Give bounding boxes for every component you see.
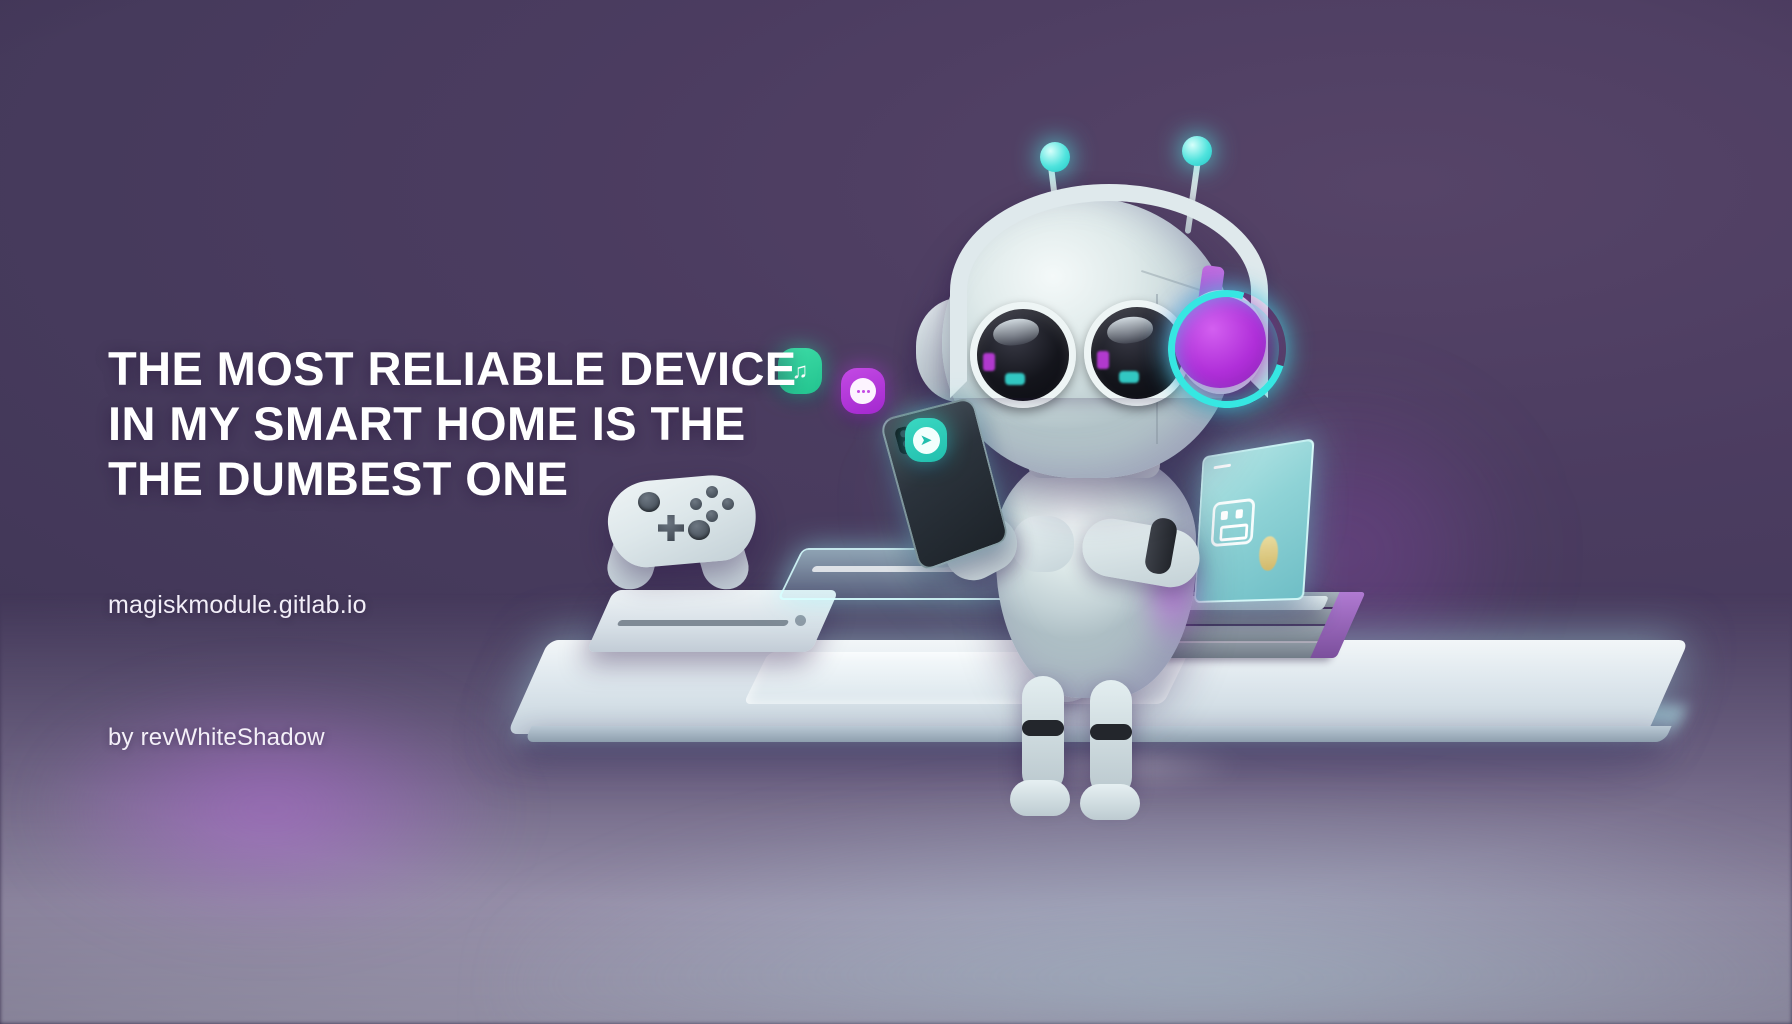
antenna-tip-left: [1040, 142, 1070, 172]
chat-app-icon: [841, 368, 885, 414]
paper-plane-icon: ➤: [913, 427, 940, 454]
text-block: THE MOST RELIABLE DEVICE IN MY SMART HOM…: [108, 342, 808, 752]
send-app-icon: ➤: [905, 418, 947, 462]
robot-leg-joint-left: [1022, 720, 1064, 736]
banner-stage: ♫ ➤ THE MOST RELIABLE DEVICE IN MY SMART…: [0, 0, 1792, 1024]
robot-foot-right: [1080, 784, 1140, 820]
headline: THE MOST RELIABLE DEVICE IN MY SMART HOM…: [108, 342, 808, 507]
site-url[interactable]: magiskmodule.gitlab.io: [108, 591, 808, 620]
robot-hand-right: [1012, 516, 1074, 572]
robot-leg-joint-right: [1090, 724, 1132, 740]
antenna-tip-right: [1182, 136, 1212, 166]
paper-plane-glyph: ➤: [920, 433, 933, 448]
robot-foot-left: [1010, 780, 1070, 816]
speech-bubble-icon: [850, 378, 876, 404]
byline: by revWhiteShadow: [108, 724, 808, 752]
